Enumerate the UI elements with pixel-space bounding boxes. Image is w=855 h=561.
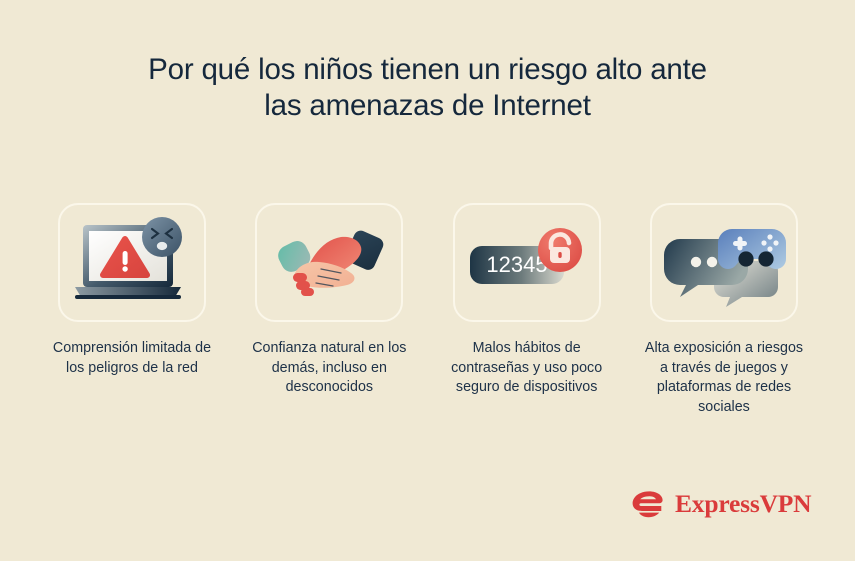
- icon-card-3: 12345: [453, 203, 601, 322]
- infographic-page: Por qué los niños tienen un riesgo alto …: [0, 0, 855, 561]
- icon-card-2: [255, 203, 403, 322]
- card-item: 12345 Malos hábitos de contraseñas y uso…: [453, 203, 601, 398]
- title-line-1: Por qué los niños tienen un riesgo alto …: [0, 52, 855, 88]
- card-row: Comprensión limitada de los peligros de …: [58, 203, 798, 417]
- handshake-icon: [271, 217, 387, 309]
- title-line-2: las amenazas de Internet: [0, 88, 855, 124]
- card-caption: Confianza natural en los demás, incluso …: [249, 339, 409, 398]
- card-caption: Comprensión limitada de los peligros de …: [52, 339, 212, 378]
- chat-bubble-game-controller-icon: [662, 217, 786, 309]
- password-value: 12345: [486, 252, 547, 277]
- card-item: Confianza natural en los demás, incluso …: [255, 203, 403, 398]
- laptop-warning-sad-face-icon: [73, 215, 191, 311]
- page-title: Por qué los niños tienen un riesgo alto …: [0, 52, 855, 124]
- card-caption: Alta exposición a riesgos a través de ju…: [644, 339, 804, 417]
- card-caption: Malos hábitos de contraseñas y uso poco …: [447, 339, 607, 398]
- icon-card-4: [650, 203, 798, 322]
- card-item: Alta exposición a riesgos a través de ju…: [650, 203, 798, 417]
- expressvpn-logo[interactable]: ExpressVPN: [632, 487, 811, 521]
- expressvpn-e-mark-icon: [632, 487, 666, 521]
- title-heading: Por qué los niños tienen un riesgo alto …: [0, 52, 855, 124]
- card-item: Comprensión limitada de los peligros de …: [58, 203, 206, 378]
- logo-wordmark: ExpressVPN: [675, 491, 811, 517]
- icon-card-1: [58, 203, 206, 322]
- weak-password-unlocked-icon: 12345: [466, 226, 588, 300]
